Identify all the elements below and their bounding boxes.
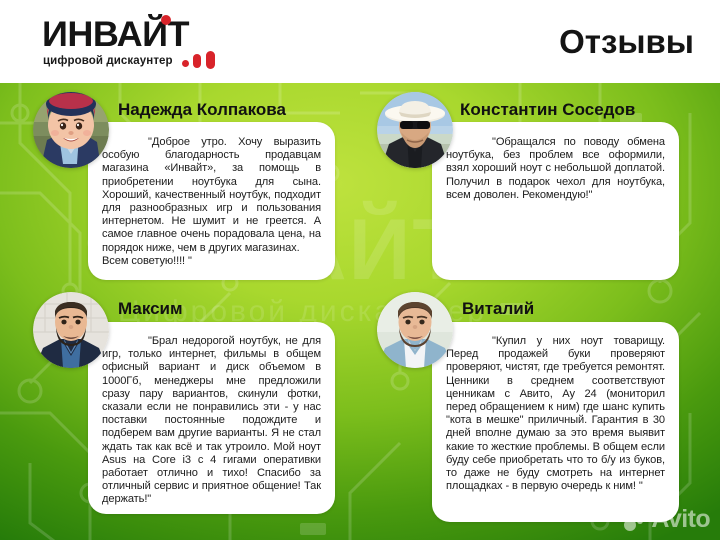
review-card: "Купил у них ноут товарищу. Перед продаж… xyxy=(432,322,679,522)
review-card: "Доброе утро. Хочу выразить особую благо… xyxy=(88,122,335,280)
logo-mark-dot-icon xyxy=(182,60,189,67)
logo-mark-bar-large-icon xyxy=(206,51,215,69)
page-header: ИНВАЙТ цифровой дискаунтер Отзывы xyxy=(0,0,720,83)
review-text: "Купил у них ноут товарищу. Перед продаж… xyxy=(446,335,665,493)
logo-red-marks-icon xyxy=(182,51,230,71)
avatar-konstantin-sosedov xyxy=(377,92,453,168)
avito-logo-icon xyxy=(623,509,649,531)
review-card: "Обращался по поводу обмена ноутбука, бе… xyxy=(432,122,679,280)
reviewer-name: Надежда Колпакова xyxy=(118,100,286,120)
avito-watermark: Avito xyxy=(623,507,710,532)
avito-wordmark: Avito xyxy=(651,507,710,532)
reviews-poster: ИНВАЙТ цифровой дискаунтер Отзывы xyxy=(0,0,720,540)
review-text: "Доброе утро. Хочу выразить особую благо… xyxy=(102,136,321,268)
avatar-vitaliy xyxy=(377,292,453,368)
logo-mark-bar-small-icon xyxy=(193,54,201,68)
review-text: "Обращался по поводу обмена ноутбука, бе… xyxy=(446,136,665,202)
page-title: Отзывы xyxy=(559,23,694,61)
review-text: "Брал недорогой ноутбук, не для игр, тол… xyxy=(102,335,321,507)
brand-logo: ИНВАЙТ цифровой дискаунтер xyxy=(42,13,242,73)
logo-tagline: цифровой дискаунтер xyxy=(43,55,173,67)
reviewer-name: Виталий xyxy=(462,299,534,319)
logo-red-dot-icon xyxy=(161,15,171,25)
reviewer-name: Максим xyxy=(118,299,183,319)
reviewer-name: Константин Соседов xyxy=(460,100,635,120)
review-card: "Брал недорогой ноутбук, не для игр, тол… xyxy=(88,322,335,514)
avatar-nadezhda-kolpakova xyxy=(33,92,109,168)
avatar-maksim xyxy=(33,292,109,368)
